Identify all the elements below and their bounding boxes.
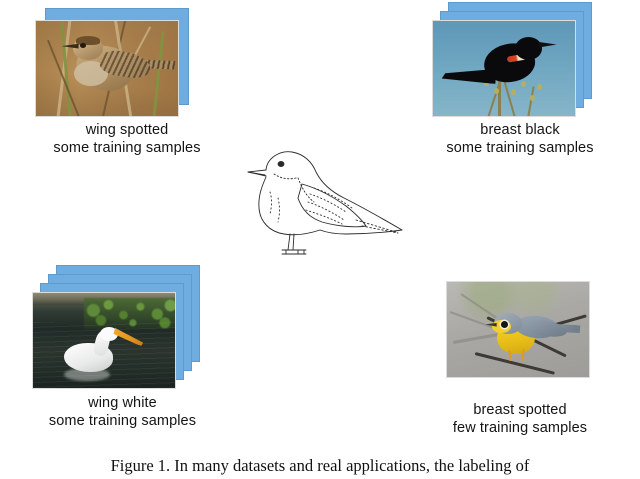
- bird-head: [515, 37, 542, 60]
- photo-wing-spotted[interactable]: [35, 20, 179, 117]
- attribute-label: wing spotted: [32, 122, 222, 140]
- image-stack-breast-spotted: [420, 278, 620, 382]
- image-stack-breast-black: [420, 2, 620, 120]
- figure-caption: Figure 1. In many datasets and real appl…: [0, 456, 640, 479]
- sample-group-breast-black: breast black some training samples: [420, 2, 620, 120]
- sample-group-wing-spotted: wing spotted some training samples: [32, 8, 222, 120]
- bird-eye: [501, 321, 508, 328]
- photo-scene-pelican: [33, 293, 175, 388]
- branch: [527, 86, 535, 117]
- count-label: some training samples: [32, 140, 222, 158]
- photo-scene-blackbird: [433, 21, 575, 116]
- count-label: few training samples: [420, 420, 620, 438]
- attribute-label: breast spotted: [420, 402, 620, 420]
- bird-eye: [80, 43, 86, 48]
- line-drawn-bird-illustration: [236, 136, 416, 266]
- bird-beak: [538, 42, 556, 48]
- photo-scene-sparrow: [36, 21, 178, 116]
- photo-breast-spotted[interactable]: [446, 281, 590, 378]
- branch: [475, 352, 556, 375]
- count-label: some training samples: [20, 413, 225, 431]
- sample-label-wing-white: wing white some training samples: [20, 395, 225, 430]
- bird-leg: [522, 348, 525, 360]
- sample-group-breast-spotted: breast spotted few training samples: [420, 278, 620, 382]
- sample-group-wing-white: wing white some training samples: [20, 265, 225, 393]
- figure-canvas: wing spotted some training samples: [0, 0, 640, 479]
- image-stack-wing-spotted: [32, 8, 222, 120]
- branch: [503, 79, 516, 117]
- sample-label-wing-spotted: wing spotted some training samples: [32, 122, 222, 157]
- count-label: some training samples: [420, 140, 620, 158]
- photo-scene-warbler: [447, 282, 589, 377]
- sample-label-breast-black: breast black some training samples: [420, 122, 620, 157]
- sample-label-breast-spotted: breast spotted few training samples: [420, 402, 620, 437]
- image-stack-wing-white: [20, 265, 225, 393]
- photo-wing-white[interactable]: [32, 292, 176, 389]
- photo-breast-black[interactable]: [432, 20, 576, 117]
- attribute-label: breast black: [420, 122, 620, 140]
- attribute-label: wing white: [20, 395, 225, 413]
